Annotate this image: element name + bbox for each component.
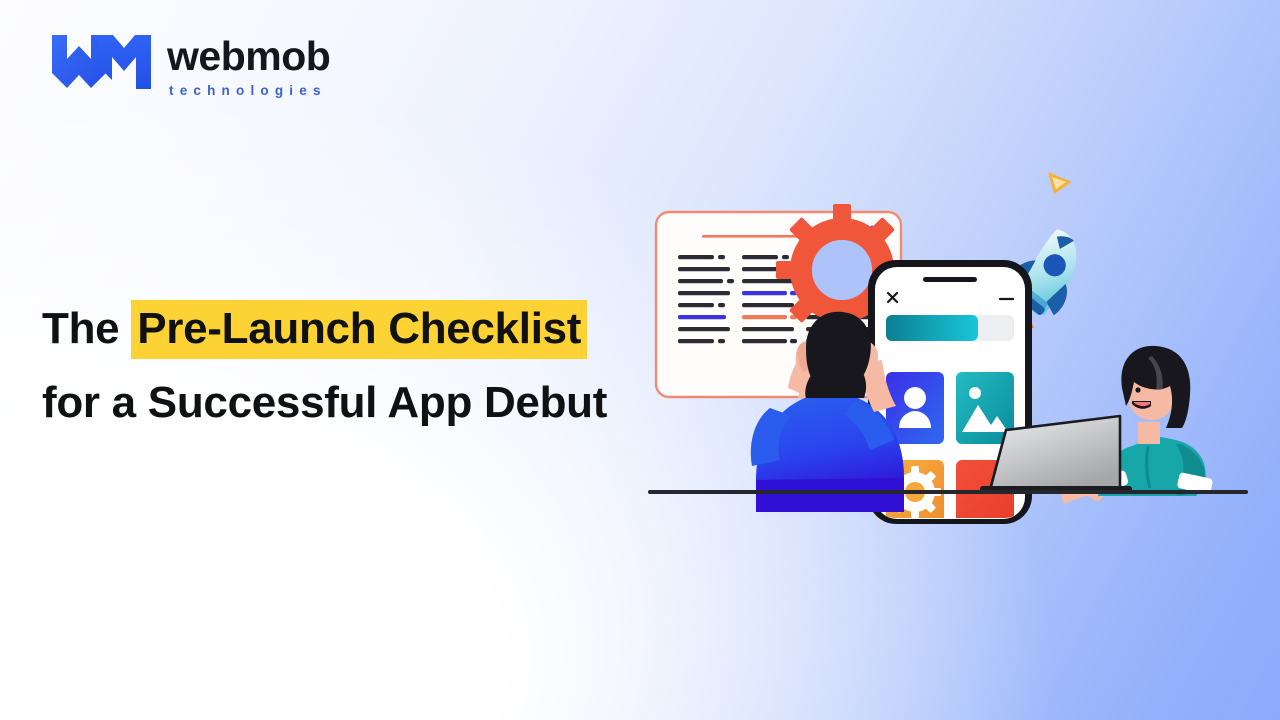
webmob-logo[interactable]: webmob technologies bbox=[50, 33, 330, 99]
headline-prefix: The bbox=[42, 304, 131, 353]
logo-wordmark: webmob bbox=[167, 36, 330, 77]
page-headline: The Pre-Launch Checklist for a Successfu… bbox=[42, 292, 607, 440]
wm-monogram-icon bbox=[50, 33, 153, 99]
headline-line-2: for a Successful App Debut bbox=[42, 366, 607, 440]
ground-line bbox=[648, 490, 1248, 494]
logo-text-block: webmob technologies bbox=[167, 34, 330, 98]
headline-line-1: The Pre-Launch Checklist bbox=[42, 300, 587, 359]
headline-highlight: Pre-Launch Checklist bbox=[131, 300, 587, 359]
logo-tagline: technologies bbox=[169, 84, 330, 98]
banner-canvas: webmob technologies The Pre-Launch Check… bbox=[0, 0, 1280, 720]
app-launch-illustration bbox=[620, 160, 1280, 520]
